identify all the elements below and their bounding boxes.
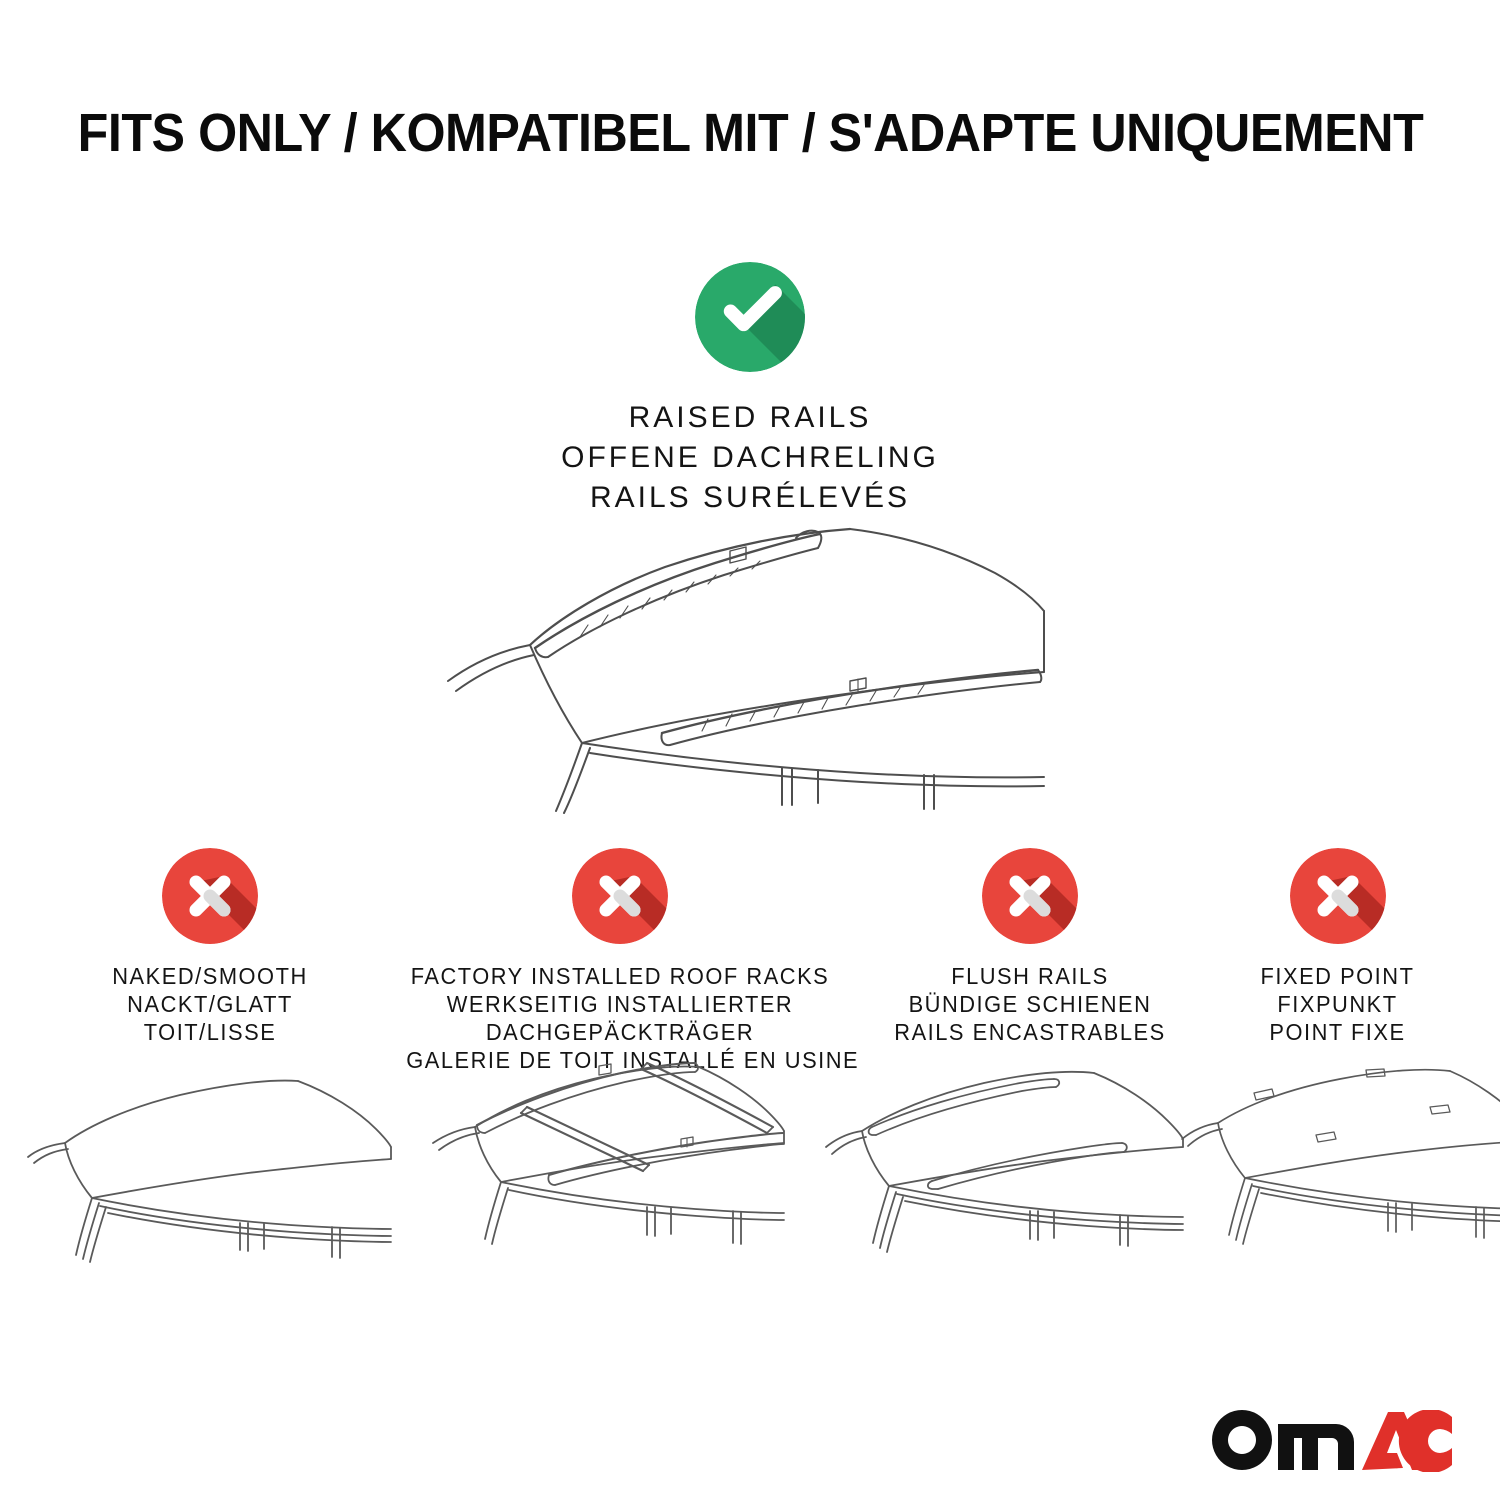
incompatible-caption: FLUSH RAILS BÜNDIGE SCHIENEN RAILS ENCAS… — [869, 962, 1192, 1046]
car-roof-factory-roof-racks-svg — [415, 1055, 805, 1295]
incompatible-line: FIXPUNKT — [1207, 990, 1468, 1018]
incompatible-item-naked-smooth: NAKED/SMOOTH NACKT/GLATT TOIT/LISSE — [55, 848, 365, 1046]
cross-circle-icon — [162, 848, 258, 944]
compatible-caption: RAISED RAILS OFFENE DACHRELING RAILS SUR… — [0, 398, 1500, 518]
incompatible-line: NAKED/SMOOTH — [63, 962, 358, 990]
incompatible-line: NACKT/GLATT — [63, 990, 358, 1018]
omac-logo-svg — [1212, 1410, 1452, 1472]
incompatible-line: DACHGEPÄCKTRÄGER — [406, 1018, 834, 1046]
car-roof-raised-rails-svg — [430, 505, 1070, 815]
cross-circle-icon-svg — [572, 848, 668, 944]
car-roof-flush-rails-drawing — [820, 1065, 1210, 1295]
cross-circle-icon — [982, 848, 1078, 944]
incompatible-line: POINT FIXE — [1207, 1018, 1468, 1046]
compatible-line-2: OFFENE DACHRELING — [0, 438, 1500, 478]
cross-circle-icon-svg — [982, 848, 1078, 944]
cross-circle-icon — [572, 848, 668, 944]
incompatible-line: TOIT/LISSE — [63, 1018, 358, 1046]
car-roof-fixed-point-svg — [1160, 1065, 1500, 1295]
omac-logo — [1212, 1410, 1452, 1472]
cross-circle-icon — [1290, 848, 1386, 944]
incompatible-item-flush-rails: FLUSH RAILS BÜNDIGE SCHIENEN RAILS ENCAS… — [860, 848, 1200, 1046]
check-circle-icon-svg — [695, 262, 805, 372]
incompatible-item-fixed-point: FIXED POINT FIXPUNKT POINT FIXE — [1200, 848, 1475, 1046]
incompatible-line: RAILS ENCASTRABLES — [869, 1018, 1192, 1046]
incompatible-line: FLUSH RAILS — [869, 962, 1192, 990]
incompatible-line: FACTORY INSTALLED ROOF RACKS — [406, 962, 834, 990]
car-roof-factory-roof-racks-drawing — [415, 1055, 805, 1285]
compatible-line-1: RAISED RAILS — [0, 398, 1500, 438]
compatible-section: RAISED RAILS OFFENE DACHRELING RAILS SUR… — [0, 262, 1500, 518]
car-roof-fixed-point-drawing — [1160, 1065, 1500, 1295]
incompatible-line: WERKSEITIG INSTALLIERTER — [406, 990, 834, 1018]
check-circle-icon — [695, 262, 805, 372]
car-roof-naked-smooth-drawing — [20, 1065, 410, 1295]
incompatible-caption: FIXED POINT FIXPUNKT POINT FIXE — [1207, 962, 1468, 1046]
car-roof-naked-smooth-svg — [20, 1065, 410, 1295]
page-title: FITS ONLY / KOMPATIBEL MIT / S'ADAPTE UN… — [77, 104, 1423, 162]
car-roof-flush-rails-svg — [820, 1065, 1210, 1295]
incompatible-line: BÜNDIGE SCHIENEN — [869, 990, 1192, 1018]
car-roof-raised-rails-drawing — [430, 505, 1070, 815]
incompatible-caption: NAKED/SMOOTH NACKT/GLATT TOIT/LISSE — [63, 962, 358, 1046]
cross-circle-icon-svg — [1290, 848, 1386, 944]
cross-circle-icon-svg — [162, 848, 258, 944]
incompatible-item-factory-roof-racks: FACTORY INSTALLED ROOF RACKS WERKSEITIG … — [395, 848, 845, 1074]
incompatible-line: FIXED POINT — [1207, 962, 1468, 990]
header: FITS ONLY / KOMPATIBEL MIT / S'ADAPTE UN… — [0, 104, 1500, 162]
